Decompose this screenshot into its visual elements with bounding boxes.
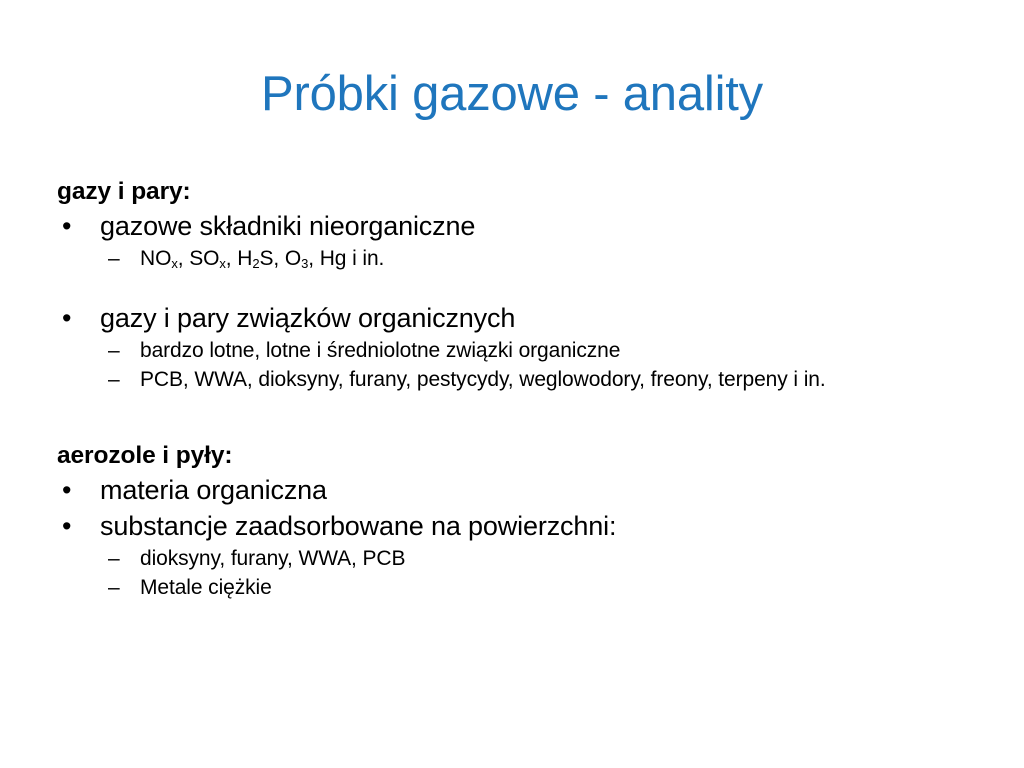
slide-title: Próbki gazowe - anality [0, 68, 1024, 121]
list-item-gazy-nieorganiczne-formulas: – NOx, SOx, H2S, O3, Hg i in. [55, 245, 980, 274]
list-item-pcb-wwa: – PCB, WWA, dioksyny, furany, pestycydy,… [55, 366, 980, 395]
formula-subscript: 3 [301, 256, 308, 271]
list-item-label: dioksyny, furany, WWA, PCB [140, 547, 405, 570]
section-aerozole-i-pyly: aerozole i pyły: • materia organiczna • … [55, 440, 980, 602]
formula-subscript: x [219, 256, 225, 271]
spacer-after-formulas [55, 273, 980, 301]
slide: Próbki gazowe - anality gazy i pary: • g… [0, 0, 1024, 768]
formula-subscript: x [171, 256, 177, 271]
list-item-label: gazy i pary związków organicznych [100, 303, 515, 333]
slide-body: gazy i pary: • gazowe składniki nieorgan… [55, 176, 980, 602]
formula-base: , H [226, 247, 253, 270]
bullet-icon: • [62, 301, 71, 337]
formula-base: , SO [178, 247, 220, 270]
formula-subscript: 2 [252, 256, 259, 271]
list-item-label: bardzo lotne, lotne i średniolotne związ… [140, 339, 620, 362]
section-heading-gazy-i-pary: gazy i pary: [57, 176, 980, 208]
dash-icon: – [108, 366, 120, 395]
list-item-materia-organiczna: • materia organiczna [55, 473, 980, 509]
bullet-icon: • [62, 473, 71, 509]
list-item-bardzo-lotne: – bardzo lotne, lotne i średniolotne zwi… [55, 337, 980, 366]
list-item-label: substancje zaadsorbowane na powierzchni: [100, 511, 616, 541]
dash-icon: – [108, 545, 120, 574]
list-item-gazy-organiczne: • gazy i pary związków organicznych [55, 301, 980, 337]
spacer-between-sections [55, 394, 980, 440]
list-item-metale-ciezkie: – Metale ciężkie [55, 574, 980, 603]
bullet-icon: • [62, 209, 71, 245]
list-item-dioksyny-furany: – dioksyny, furany, WWA, PCB [55, 545, 980, 574]
list-item-substancje-zaadsorbowane: • substancje zaadsorbowane na powierzchn… [55, 509, 980, 545]
list-item-label: Metale ciężkie [140, 576, 272, 599]
bullet-icon: • [62, 509, 71, 545]
dash-icon: – [108, 337, 120, 366]
dash-icon: – [108, 574, 120, 603]
section-heading-aerozole-i-pyly: aerozole i pyły: [57, 440, 980, 472]
list-item-label: materia organiczna [100, 475, 327, 505]
formula-base: NO [140, 247, 171, 270]
dash-icon: – [108, 245, 120, 274]
list-item-gazowe-skladniki: • gazowe składniki nieorganiczne [55, 209, 980, 245]
list-item-label-formula: NOx, SOx, H2S, O3, Hg i in. [140, 247, 384, 270]
list-item-label: gazowe składniki nieorganiczne [100, 211, 475, 241]
section-gazy-i-pary: gazy i pary: • gazowe składniki nieorgan… [55, 176, 980, 394]
list-item-label: PCB, WWA, dioksyny, furany, pestycydy, w… [140, 368, 826, 391]
formula-base: , Hg i in. [308, 247, 384, 270]
formula-base: S, O [259, 247, 301, 270]
